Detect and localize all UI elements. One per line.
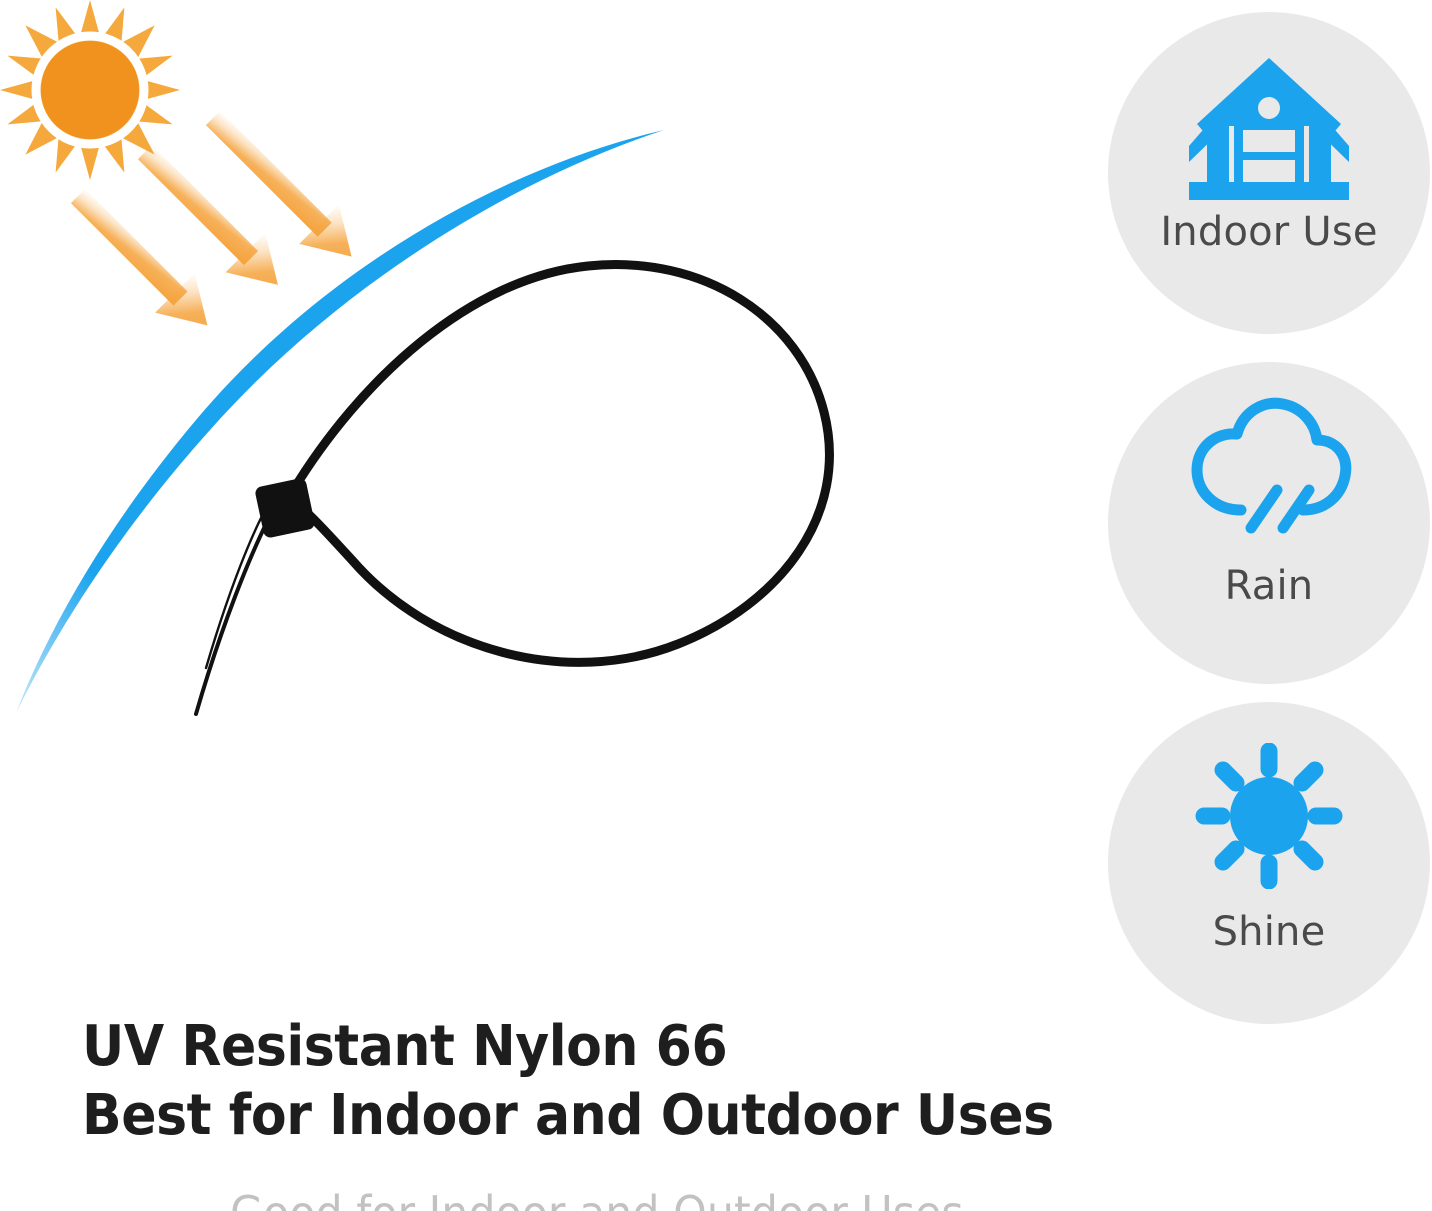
headline-block: UV Resistant Nylon 66 Best for Indoor an… <box>82 1012 1082 1151</box>
rain-cloud-icon <box>1184 392 1354 544</box>
badge-label: Indoor Use <box>1160 212 1377 252</box>
feature-badge-rain: Rain <box>1108 362 1430 684</box>
product-feature-infographic: Indoor Use Rain <box>0 0 1432 1211</box>
feature-badge-shine: Shine <box>1108 702 1430 1024</box>
uv-resistance-illustration <box>0 0 1080 1000</box>
badge-label: Rain <box>1225 566 1314 606</box>
headline-cut-off-line: Good for Indoor and Outdoor Uses <box>230 1190 1130 1211</box>
house-icon <box>1184 54 1354 206</box>
headline-line-1: UV Resistant Nylon 66 <box>82 1012 1012 1081</box>
sun-shine-icon <box>1184 740 1354 892</box>
headline-cut-text: Good for Indoor and Outdoor Uses <box>230 1190 1067 1211</box>
headline-line-2: Best for Indoor and Outdoor Uses <box>82 1081 1012 1150</box>
feature-badge-indoor-use: Indoor Use <box>1108 12 1430 334</box>
badge-label: Shine <box>1213 912 1326 952</box>
